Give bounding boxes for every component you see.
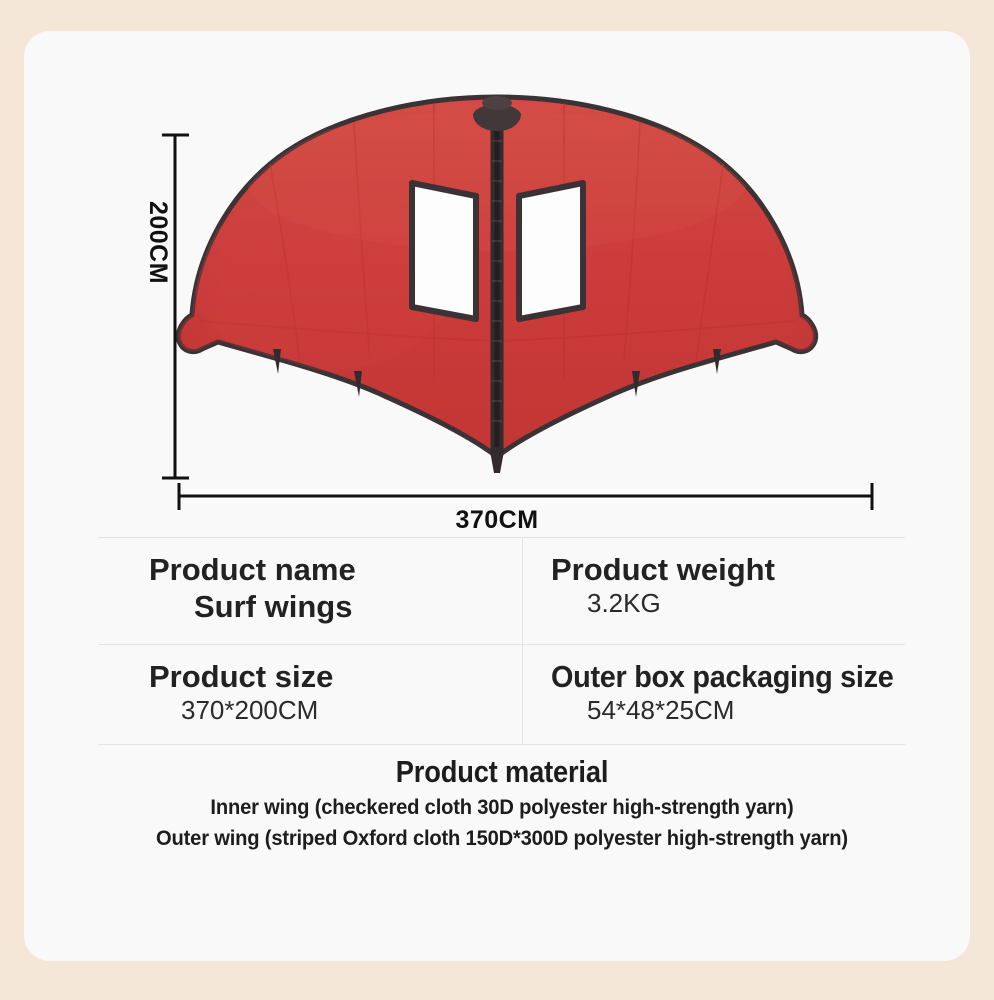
wing-window-left [412, 183, 476, 319]
material-line-inner-wing: Inner wing (checkered cloth 30D polyeste… [115, 792, 889, 824]
material-line-outer-wing: Outer wing (striped Oxford cloth 150D*30… [115, 823, 889, 855]
center-strut [492, 109, 502, 451]
product-illustration-area: 200CM 370CM [24, 31, 970, 531]
cell-product-weight: Product weight 3.2KG [522, 538, 905, 644]
product-material-section: Product material Inner wing (checkered c… [99, 744, 905, 855]
height-dimension-label: 200CM [143, 201, 172, 284]
outer-box-size-header: Outer box packaging size [551, 659, 880, 694]
outer-box-size-value: 54*48*25CM [551, 694, 905, 728]
height-dimension-line [162, 135, 189, 478]
product-size-header: Product size [149, 659, 522, 694]
cell-product-name: Product name Surf wings [99, 538, 522, 644]
table-row: Product name Surf wings Product weight 3… [99, 537, 905, 644]
spec-card: 200CM 370CM Product name Surf wings Prod… [24, 31, 970, 961]
width-dimension-label: 370CM [24, 506, 970, 535]
product-weight-value: 3.2KG [551, 587, 905, 621]
cell-outer-box-size: Outer box packaging size 54*48*25CM [522, 645, 905, 744]
wing-window-right [519, 183, 583, 319]
product-size-value: 370*200CM [149, 694, 522, 728]
product-weight-header: Product weight [551, 552, 905, 587]
product-name-value: Surf wings [149, 587, 522, 627]
page-root: 200CM 370CM Product name Surf wings Prod… [0, 0, 994, 1000]
product-material-title: Product material [147, 753, 856, 792]
table-row: Product size 370*200CM Outer box packagi… [99, 644, 905, 744]
cell-product-size: Product size 370*200CM [99, 645, 522, 744]
specification-table: Product name Surf wings Product weight 3… [99, 537, 905, 855]
product-name-header: Product name [149, 552, 522, 587]
